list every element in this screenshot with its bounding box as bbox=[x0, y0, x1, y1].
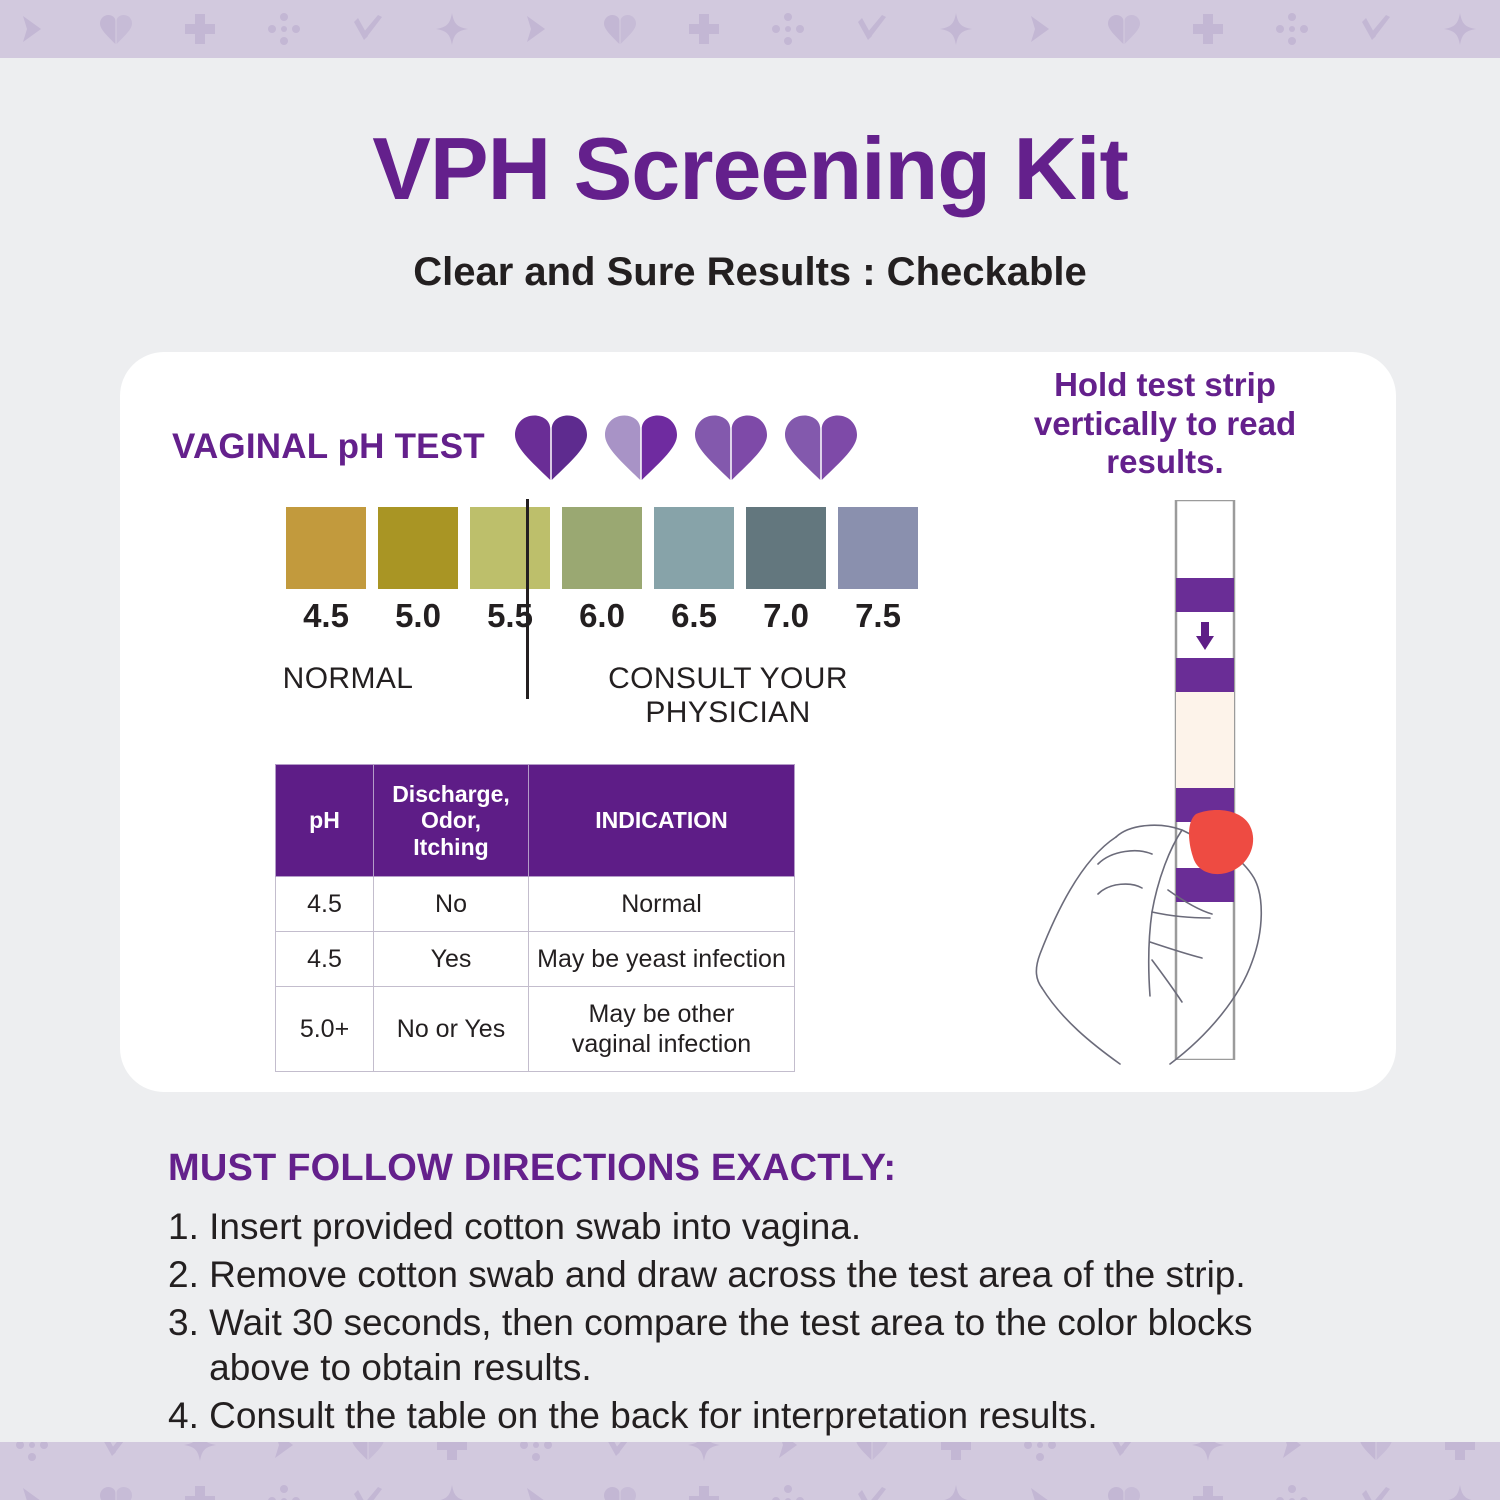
cross-icon bbox=[914, 1442, 998, 1471]
check-icon bbox=[830, 3, 914, 55]
knuckle-line-2 bbox=[1150, 942, 1202, 958]
chevron-icon bbox=[998, 1475, 1082, 1500]
dots-diamond-icon bbox=[1250, 1475, 1334, 1500]
ph-swatch-cell: 7.5 bbox=[832, 507, 924, 632]
ph-swatch-cell: 5.5 bbox=[464, 507, 556, 632]
ph-swatch-value: 5.5 bbox=[464, 599, 556, 632]
bottom-decorative-band bbox=[0, 1442, 1500, 1500]
hand-outer-bottom bbox=[1042, 988, 1120, 1064]
table-col-header: INDICATION bbox=[529, 765, 795, 877]
ph-test-heading: VAGINAL pH TEST bbox=[172, 414, 859, 480]
table-header: pHDischarge,Odor,ItchingINDICATION bbox=[276, 765, 795, 877]
table-body: 4.5NoNormal4.5YesMay be yeast infection5… bbox=[276, 877, 795, 1072]
table-cell: No or Yes bbox=[374, 987, 529, 1072]
instructions-block: MUST FOLLOW DIRECTIONS EXACTLY: 1. Inser… bbox=[168, 1148, 1348, 1441]
heart-icon bbox=[74, 1475, 158, 1500]
middle-finger-line bbox=[1098, 851, 1152, 864]
knuckle-line-4 bbox=[1168, 890, 1212, 914]
index-finger-line bbox=[1116, 825, 1198, 838]
cross-icon bbox=[1418, 1442, 1500, 1471]
instructions-title: MUST FOLLOW DIRECTIONS EXACTLY: bbox=[168, 1148, 1348, 1190]
knuckle-line-3 bbox=[1152, 960, 1182, 1002]
ph-swatch-value: 6.0 bbox=[556, 599, 648, 632]
check-icon bbox=[1334, 1475, 1418, 1500]
ph-color-scale: 4.55.05.56.06.57.07.5 NORMAL CONSULT YOU… bbox=[280, 507, 924, 632]
table-cell: May be yeast infection bbox=[529, 932, 795, 987]
page-title: VPH Screening Kit bbox=[0, 125, 1500, 213]
dots-diamond-icon bbox=[494, 1442, 578, 1471]
instruction-step: 3. Wait 30 seconds, then compare the tes… bbox=[168, 1300, 1348, 1392]
decor-icon-row bbox=[0, 0, 1500, 58]
heart-icon bbox=[1082, 1475, 1166, 1500]
table-cell: 4.5 bbox=[276, 932, 374, 987]
table-row: 5.0+No or YesMay be othervaginal infecti… bbox=[276, 987, 795, 1072]
ph-swatch-cell: 4.5 bbox=[280, 507, 372, 632]
table-cell: 5.0+ bbox=[276, 987, 374, 1072]
interpretation-table: pHDischarge,Odor,ItchingINDICATION 4.5No… bbox=[275, 764, 795, 1072]
zone-label-normal: NORMAL bbox=[170, 662, 526, 730]
chevron-icon bbox=[494, 3, 578, 55]
hold-strip-note: Hold test strip vertically to read resul… bbox=[1000, 366, 1330, 482]
cross-icon bbox=[410, 1442, 494, 1471]
instructions-list: 1. Insert provided cotton swab into vagi… bbox=[168, 1204, 1348, 1439]
chevron-icon bbox=[494, 1475, 578, 1500]
page-subtitle: Clear and Sure Results : Checkable bbox=[0, 252, 1500, 292]
check-icon bbox=[326, 1475, 410, 1500]
cross-icon bbox=[1166, 1475, 1250, 1500]
dots-diamond-icon bbox=[1250, 3, 1334, 55]
heart-icon bbox=[578, 1475, 662, 1500]
heart-icon bbox=[578, 3, 662, 55]
ph-swatch-value: 4.5 bbox=[280, 599, 372, 632]
heart-icon bbox=[603, 414, 679, 480]
strip-test-pad bbox=[1176, 692, 1234, 788]
ph-swatch-color bbox=[654, 507, 734, 589]
chevron-icon bbox=[242, 1442, 326, 1471]
ph-swatch-value: 5.0 bbox=[372, 599, 464, 632]
ph-swatch-row: 4.55.05.56.06.57.07.5 bbox=[280, 507, 924, 632]
hand-illustration bbox=[1020, 782, 1340, 1072]
heart-icon-group bbox=[513, 414, 859, 480]
instruction-step: 2. Remove cotton swab and draw across th… bbox=[168, 1252, 1348, 1298]
ring-finger-line bbox=[1098, 884, 1142, 894]
ph-swatch-value: 7.5 bbox=[832, 599, 924, 632]
ph-swatch-value: 7.0 bbox=[740, 599, 832, 632]
heart-icon bbox=[1082, 3, 1166, 55]
sparkle-icon bbox=[1166, 1442, 1250, 1471]
chevron-icon bbox=[1250, 1442, 1334, 1471]
dots-diamond-icon bbox=[746, 1475, 830, 1500]
ph-swatch-cell: 6.0 bbox=[556, 507, 648, 632]
check-icon bbox=[1334, 3, 1418, 55]
sparkle-icon bbox=[410, 1475, 494, 1500]
cross-icon bbox=[1166, 3, 1250, 55]
sparkle-icon bbox=[410, 3, 494, 55]
table-cell: 4.5 bbox=[276, 877, 374, 932]
sparkle-icon bbox=[914, 1475, 998, 1500]
ph-swatch-color bbox=[746, 507, 826, 589]
ph-swatch-color bbox=[286, 507, 366, 589]
ph-zone-labels: NORMAL CONSULT YOUR PHYSICIAN bbox=[170, 662, 930, 730]
strip-band-2 bbox=[1176, 658, 1234, 692]
chevron-icon bbox=[0, 3, 74, 55]
chevron-icon bbox=[746, 1442, 830, 1471]
cross-icon bbox=[662, 3, 746, 55]
ph-swatch-color bbox=[470, 507, 550, 589]
heart-icon bbox=[74, 3, 158, 55]
info-card: VAGINAL pH TEST 4.55.05.56.06.57.07.5 NO… bbox=[120, 352, 1396, 1092]
instruction-step: 4. Consult the table on the back for int… bbox=[168, 1393, 1348, 1439]
top-decorative-band bbox=[0, 0, 1500, 58]
sparkle-icon bbox=[1418, 1475, 1500, 1500]
hand-svg bbox=[1020, 782, 1340, 1072]
check-icon bbox=[830, 1475, 914, 1500]
heart-icon bbox=[830, 1442, 914, 1471]
heart-icon bbox=[783, 414, 859, 480]
heart-icon bbox=[693, 414, 769, 480]
dots-diamond-icon bbox=[242, 3, 326, 55]
ph-swatch-cell: 7.0 bbox=[740, 507, 832, 632]
chevron-icon bbox=[0, 1475, 74, 1500]
sparkle-icon bbox=[158, 1442, 242, 1471]
ph-swatch-color bbox=[838, 507, 918, 589]
heart-icon bbox=[513, 414, 589, 480]
dots-diamond-icon bbox=[746, 3, 830, 55]
dots-diamond-icon bbox=[0, 1442, 74, 1471]
ph-swatch-color bbox=[378, 507, 458, 589]
table-row: 4.5NoNormal bbox=[276, 877, 795, 932]
ph-swatch-color bbox=[562, 507, 642, 589]
check-icon bbox=[326, 3, 410, 55]
table-cell: Yes bbox=[374, 932, 529, 987]
check-icon bbox=[1082, 1442, 1166, 1471]
check-icon bbox=[74, 1442, 158, 1471]
heart-icon bbox=[326, 1442, 410, 1471]
decor-icon-row bbox=[0, 1472, 1500, 1500]
table-header-row: pHDischarge,Odor,ItchingINDICATION bbox=[276, 765, 795, 877]
ph-test-label: VAGINAL pH TEST bbox=[172, 427, 485, 467]
dots-diamond-icon bbox=[998, 1442, 1082, 1471]
table-col-header: Discharge,Odor,Itching bbox=[374, 765, 529, 877]
heart-icon bbox=[1334, 1442, 1418, 1471]
sparkle-icon bbox=[914, 3, 998, 55]
cross-icon bbox=[662, 1475, 746, 1500]
dots-diamond-icon bbox=[242, 1475, 326, 1500]
strip-band-1 bbox=[1176, 578, 1234, 612]
table-row: 4.5YesMay be yeast infection bbox=[276, 932, 795, 987]
sparkle-icon bbox=[662, 1442, 746, 1471]
table-cell: May be othervaginal infection bbox=[529, 987, 795, 1072]
ph-swatch-cell: 6.5 bbox=[648, 507, 740, 632]
instruction-step: 1. Insert provided cotton swab into vagi… bbox=[168, 1204, 1348, 1250]
cross-icon bbox=[158, 1475, 242, 1500]
table-cell: Normal bbox=[529, 877, 795, 932]
table-col-header: pH bbox=[276, 765, 374, 877]
check-icon bbox=[578, 1442, 662, 1471]
ph-swatch-cell: 5.0 bbox=[372, 507, 464, 632]
sparkle-icon bbox=[1418, 3, 1500, 55]
decor-icon-row bbox=[0, 1442, 1500, 1474]
knuckle-line-1 bbox=[1152, 912, 1210, 918]
chevron-icon bbox=[998, 3, 1082, 55]
cross-icon bbox=[158, 3, 242, 55]
table-cell: No bbox=[374, 877, 529, 932]
zone-label-consult: CONSULT YOUR PHYSICIAN bbox=[526, 662, 930, 730]
ph-swatch-value: 6.5 bbox=[648, 599, 740, 632]
